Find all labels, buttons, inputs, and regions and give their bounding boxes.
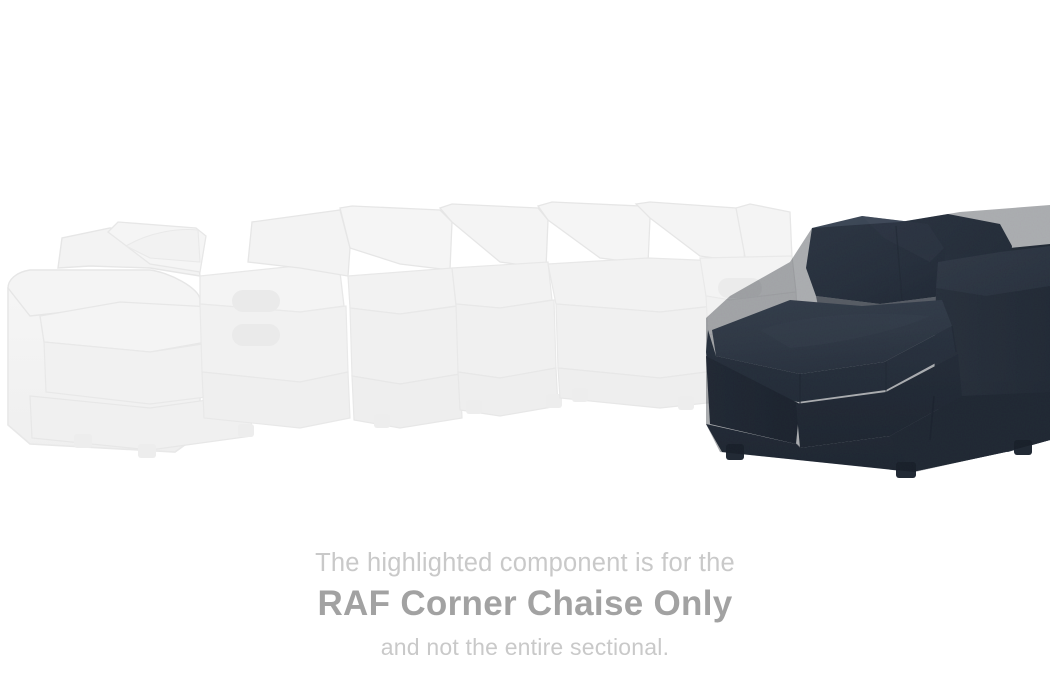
ghost-foot (74, 434, 92, 448)
cupholder-icon (232, 324, 280, 346)
ghost-module-console (200, 266, 350, 428)
caption-line-2-component-name: RAF Corner Chaise Only (0, 582, 1050, 626)
caption-line-3: and not the entire sectional. (0, 632, 1050, 662)
ghosted-sectional-group (8, 202, 798, 458)
ghost-foot (678, 396, 694, 410)
ghost-module-armless-chair-2 (440, 204, 562, 416)
cupholder-icon (232, 290, 280, 312)
ghost-foot (374, 414, 390, 428)
ghost-foot (466, 400, 482, 414)
product-image-stage: The highlighted component is for the RAF… (0, 0, 1050, 700)
caption-block: The highlighted component is for the RAF… (0, 548, 1050, 662)
caption-line-1: The highlighted component is for the (0, 548, 1050, 578)
sectional-sofa-illustration (0, 0, 1050, 520)
ghost-foot (238, 424, 254, 437)
ghost-foot (572, 388, 588, 402)
ghost-foot (138, 444, 156, 458)
